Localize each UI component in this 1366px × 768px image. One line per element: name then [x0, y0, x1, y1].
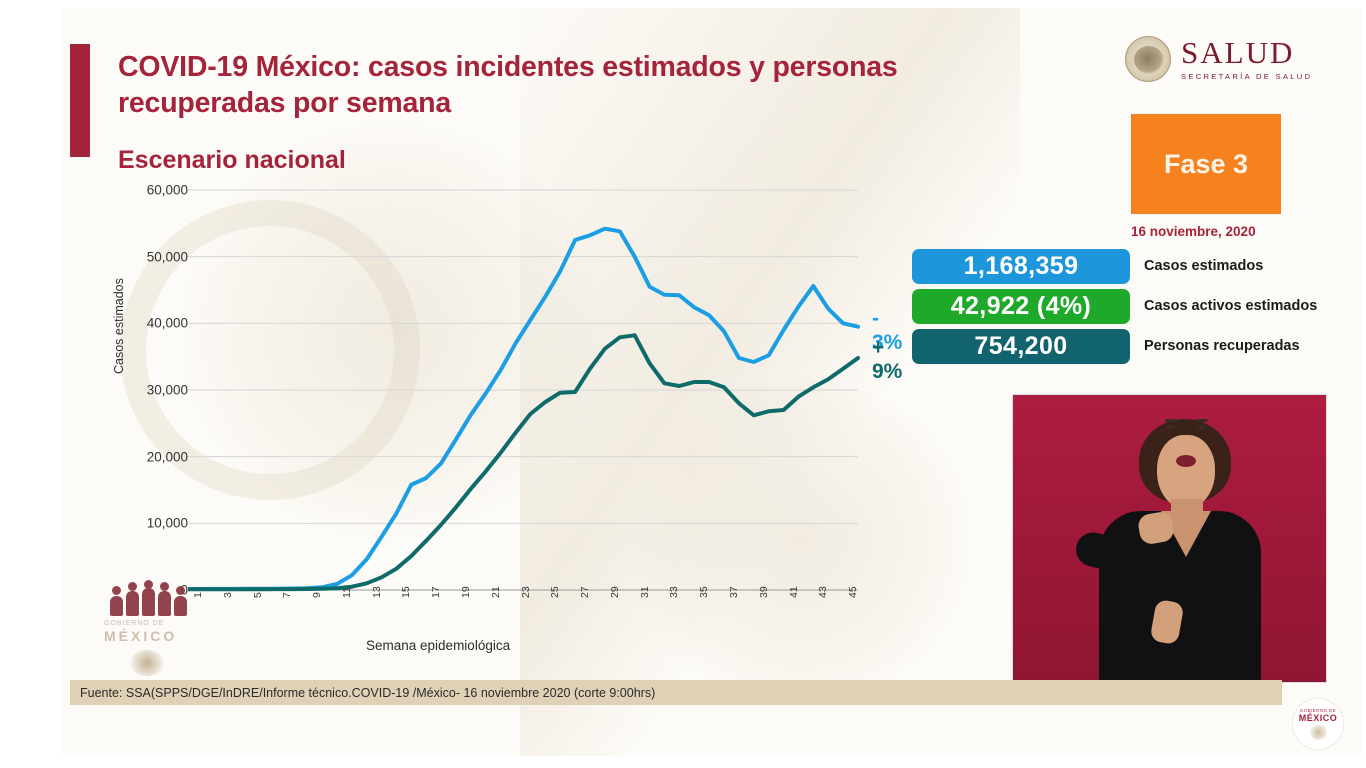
stat-row: 1,168,359 Casos estimados [912, 249, 1352, 284]
report-date: 16 noviembre, 2020 [1131, 224, 1256, 239]
x-axis-tick: 15 [400, 586, 412, 598]
x-axis-tick: 3 [222, 592, 234, 598]
gobierno-emblem-watermark: GOBIERNO DE MÉXICO [98, 566, 202, 678]
x-axis-tick: 13 [371, 586, 383, 598]
slide-canvas: COVID-19 México: casos incidentes estima… [0, 0, 1366, 768]
salud-sublabel: SECRETARÍA DE SALUD [1181, 72, 1312, 81]
y-axis-tick: 40,000 [126, 316, 188, 331]
x-axis-tick: 33 [668, 586, 680, 598]
y-axis-tick: 20,000 [126, 449, 188, 464]
x-axis-tick: 43 [817, 586, 829, 598]
source-footer: Fuente: SSA(SPPS/DGE/InDRE/Informe técni… [70, 680, 1282, 705]
interpreter-mouth [1176, 455, 1196, 467]
x-axis-tick: 23 [520, 586, 532, 598]
y-axis-tick-labels: 010,00020,00030,00040,00050,00060,000 [118, 178, 188, 608]
left-margin [0, 0, 62, 768]
x-axis-tick: 17 [430, 586, 442, 598]
x-axis-title: Semana epidemiológica [366, 638, 510, 653]
mexican-eagle-seal-icon [1125, 36, 1171, 82]
x-axis-tick: 31 [639, 586, 651, 598]
page-subtitle: Escenario nacional [118, 146, 346, 175]
gob-seal-icon [1310, 725, 1327, 740]
stat-label: Casos activos estimados [1144, 298, 1317, 316]
right-margin [1362, 0, 1366, 768]
stat-label: Casos estimados [1144, 258, 1263, 276]
x-axis-tick: 45 [847, 586, 859, 598]
x-axis-tick: 19 [460, 586, 472, 598]
y-axis-tick: 60,000 [126, 183, 188, 198]
y-axis-tick: 10,000 [126, 516, 188, 531]
page-title: COVID-19 México: casos incidentes estima… [118, 50, 1018, 122]
interpreter-face [1157, 435, 1215, 509]
salud-logo: SALUD SECRETARÍA DE SALUD [1125, 36, 1312, 82]
phase-label: Fase 3 [1164, 149, 1248, 180]
stat-label: Personas recuperadas [1144, 338, 1300, 356]
x-axis-tick: 27 [579, 586, 591, 598]
title-accent-bar [70, 44, 90, 157]
y-axis-tick: 50,000 [126, 249, 188, 264]
emblem-line2: MÉXICO [104, 628, 177, 644]
x-axis-tick: 5 [252, 592, 264, 598]
top-margin [0, 0, 1366, 8]
chart-plot-area [188, 178, 878, 618]
line-chart: Casos estimados 010,00020,00030,00040,00… [118, 178, 878, 668]
status-badge: 1,168,359 [912, 249, 1130, 284]
source-text: Fuente: SSA(SPPS/DGE/InDRE/Informe técni… [80, 686, 655, 700]
x-axis-tick: 41 [788, 586, 800, 598]
y-axis-tick: 30,000 [126, 383, 188, 398]
stat-row: 42,922 (4%) Casos activos estimados [912, 289, 1352, 324]
x-axis-tick: 37 [728, 586, 740, 598]
annotation-teal-change: + 9% [872, 336, 902, 384]
x-axis-tick: 7 [281, 592, 293, 598]
bottom-margin [0, 756, 1366, 768]
emblem-seal-icon [130, 650, 164, 676]
x-axis-tick: 39 [758, 586, 770, 598]
interpreter-brow-right [1196, 419, 1208, 422]
x-axis-tick: 21 [490, 586, 502, 598]
x-axis-tick: 25 [549, 586, 561, 598]
stats-panel: 1,168,359 Casos estimados 42,922 (4%) Ca… [912, 249, 1352, 369]
salud-wordmark: SALUD [1181, 37, 1312, 68]
x-axis-tick: 9 [311, 592, 323, 598]
interpreter-eye-right [1197, 425, 1206, 429]
phase-badge: Fase 3 [1131, 114, 1281, 214]
x-axis-tick: 11 [341, 587, 353, 598]
gob-line2: MÉXICO [1299, 713, 1338, 723]
gobierno-de-mexico-logo: GOBIERNO DE MÉXICO [1292, 698, 1344, 750]
emblem-figures-icon [106, 580, 192, 616]
interpreter-brow-left [1165, 419, 1177, 422]
x-axis-tick: 29 [609, 586, 621, 598]
x-axis-tick: 35 [698, 586, 710, 598]
sign-language-interpreter-video [1012, 394, 1327, 683]
interpreter-eye-left [1166, 425, 1175, 429]
stat-row: 754,200 Personas recuperadas [912, 329, 1352, 364]
status-badge: 42,922 (4%) [912, 289, 1130, 324]
emblem-line1: GOBIERNO DE [104, 620, 164, 627]
status-badge: 754,200 [912, 329, 1130, 364]
